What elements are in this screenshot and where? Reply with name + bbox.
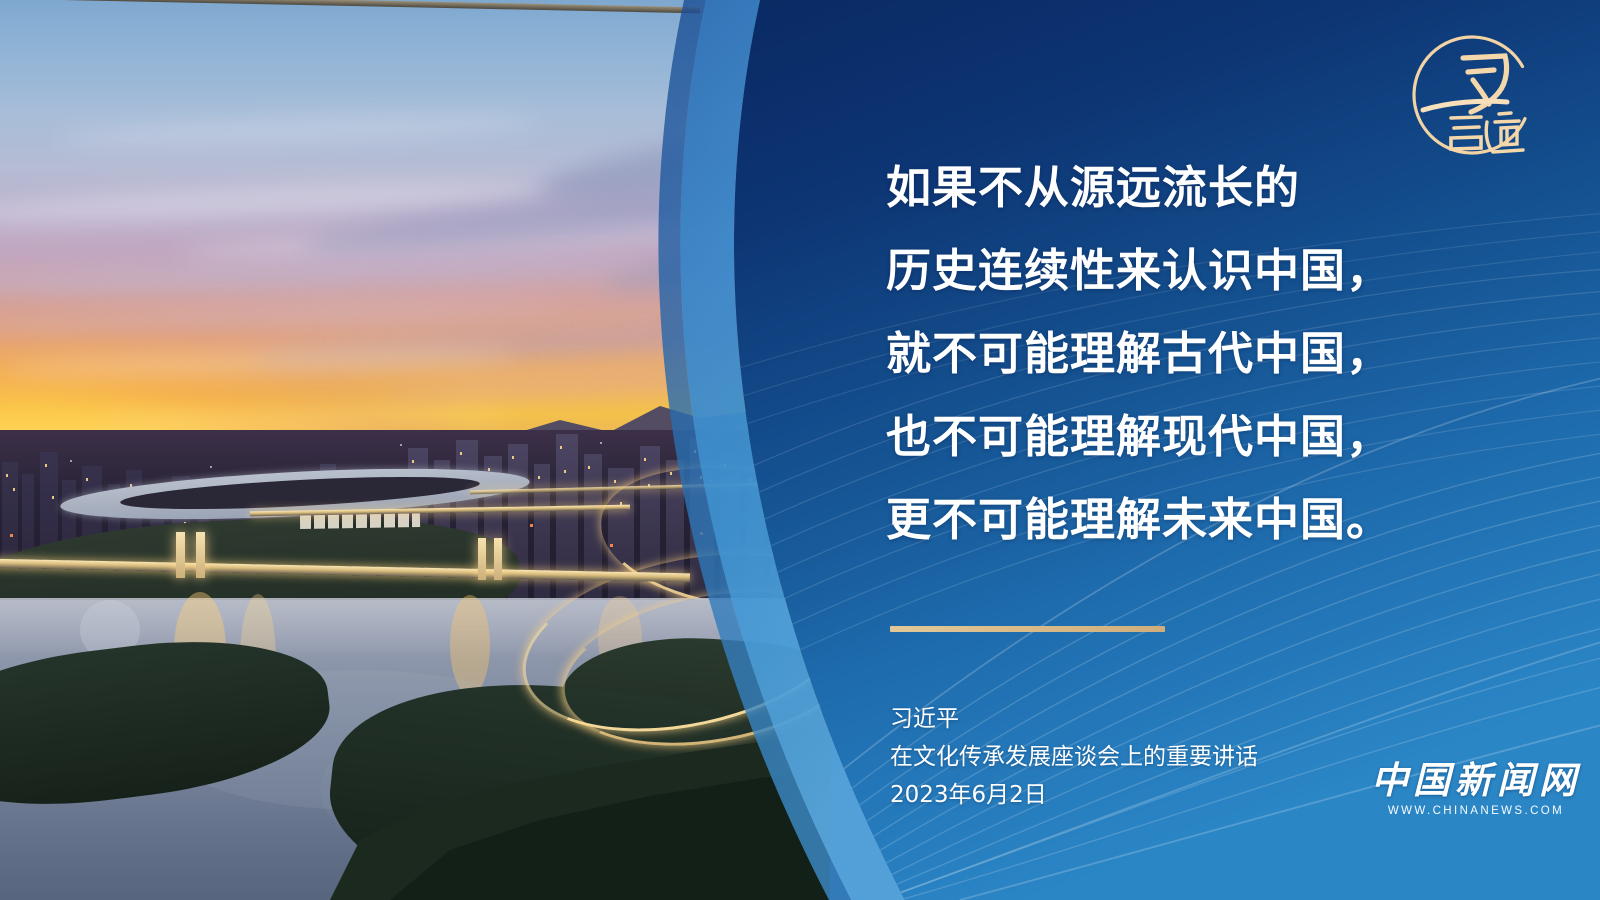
chinanews-logo: 中国新闻网 WWW.CHINANEWS.COM (1368, 758, 1584, 830)
attribution-speaker: 习近平 (890, 700, 1450, 738)
attribution-date: 2023年6月2日 (890, 776, 1450, 814)
quote-line: 就不可能理解古代中国， (886, 312, 1506, 395)
gold-divider (890, 626, 1165, 632)
quote-text: 如果不从源远流长的 历史连续性来认识中国， 就不可能理解古代中国， 也不可能理解… (886, 146, 1506, 561)
quote-line: 如果不从源远流长的 (886, 146, 1506, 229)
panel-content: 如果不从源远流长的 历史连续性来认识中国， 就不可能理解古代中国， 也不可能理解… (0, 0, 1600, 900)
quote-line: 历史连续性来认识中国， (886, 229, 1506, 312)
quote-line: 也不可能理解现代中国， (886, 395, 1506, 478)
poster-root: 如果不从源远流长的 历史连续性来认识中国， 就不可能理解古代中国， 也不可能理解… (0, 0, 1600, 900)
attribution-occasion: 在文化传承发展座谈会上的重要讲话 (890, 738, 1450, 776)
chinanews-name: 中国新闻网 (1368, 758, 1584, 802)
attribution-block: 习近平 在文化传承发展座谈会上的重要讲话 2023年6月2日 (890, 700, 1450, 814)
chinanews-url: WWW.CHINANEWS.COM (1368, 802, 1584, 820)
quote-line: 更不可能理解未来中国。 (886, 478, 1506, 561)
